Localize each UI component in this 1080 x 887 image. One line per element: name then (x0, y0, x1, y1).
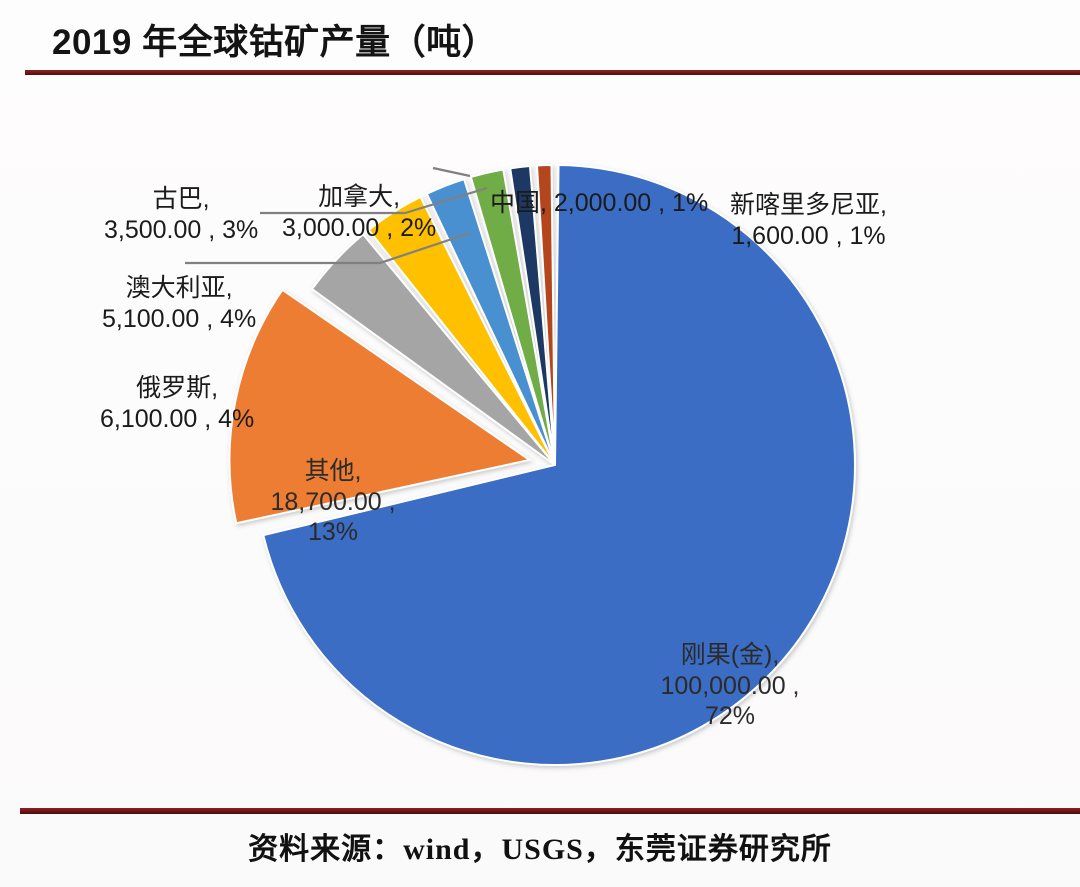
slice-label-canada-line2: 3,000.00 , 2% (282, 213, 436, 244)
slice-label-new-caledonia-line1: 新喀里多尼亚, (730, 190, 887, 221)
slice-label-new-caledonia-line2: 1,600.00 , 1% (730, 221, 887, 252)
slice-label-russia: 俄罗斯, 6,100.00 , 4% (100, 373, 254, 434)
leader-line-canada (433, 168, 470, 176)
slice-label-australia-line2: 5,100.00 , 4% (102, 304, 256, 335)
slice-label-new-caledonia: 新喀里多尼亚, 1,600.00 , 1% (730, 190, 887, 251)
slice-label-canada-line1: 加拿大, (282, 182, 436, 213)
slice-label-russia-line1: 俄罗斯, (100, 373, 254, 404)
page-title: 2019 年全球钴矿产量（吨） (52, 14, 497, 65)
chart-page: 2019 年全球钴矿产量（吨） 古巴, 3,500.00 , 3% 加拿大, 3… (0, 0, 1080, 887)
slice-label-other-line2: 18,700.00 , (248, 487, 418, 518)
slice-label-other-line1: 其他, (248, 456, 418, 487)
slice-label-other: 其他, 18,700.00 , 13% (248, 456, 418, 548)
slice-label-russia-line2: 6,100.00 , 4% (100, 404, 254, 435)
slice-label-australia-line1: 澳大利亚, (102, 273, 256, 304)
slice-label-congo-line3: 72% (650, 701, 810, 732)
slice-label-canada: 加拿大, 3,000.00 , 2% (282, 182, 436, 243)
slice-label-cuba: 古巴, 3,500.00 , 3% (104, 184, 258, 245)
source-divider (20, 808, 1080, 814)
slice-label-congo: 刚果(金), 100,000.00 , 72% (650, 640, 810, 732)
slice-label-other-line3: 13% (248, 517, 418, 548)
slice-label-congo-line1: 刚果(金), (650, 640, 810, 671)
slice-label-cuba-line2: 3,500.00 , 3% (104, 215, 258, 246)
slice-label-cuba-line1: 古巴, (104, 184, 258, 215)
slice-label-australia: 澳大利亚, 5,100.00 , 4% (102, 273, 256, 334)
slice-label-china: 中国, 2,000.00 , 1% (490, 188, 708, 219)
source-text: 资料来源：wind，USGS，东莞证券研究所 (0, 824, 1080, 868)
pie-chart: 古巴, 3,500.00 , 3% 加拿大, 3,000.00 , 2% 中国,… (0, 78, 1080, 803)
slice-label-china-line1: 中国, 2,000.00 , 1% (490, 188, 708, 219)
slice-label-congo-line2: 100,000.00 , (650, 671, 810, 702)
title-divider (25, 70, 1080, 75)
